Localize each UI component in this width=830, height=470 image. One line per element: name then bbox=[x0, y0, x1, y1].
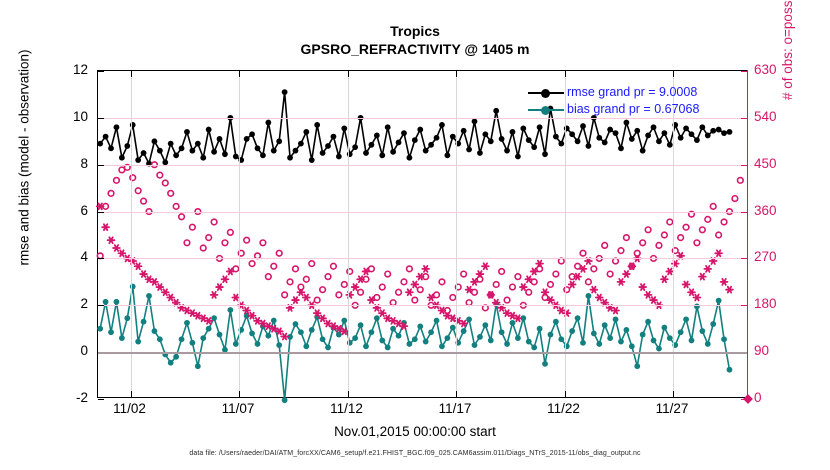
data-point bbox=[217, 136, 223, 142]
data-point bbox=[298, 141, 304, 147]
data-point bbox=[336, 332, 342, 338]
data-point-possible bbox=[705, 217, 711, 223]
data-point bbox=[488, 138, 494, 144]
legend-item-rmse: rmse grand pr = 9.0008 bbox=[528, 84, 743, 101]
data-point-possible bbox=[510, 284, 516, 290]
data-point bbox=[586, 143, 592, 149]
x-tick-top bbox=[239, 71, 240, 77]
data-point bbox=[575, 315, 581, 321]
data-point-possible bbox=[580, 250, 586, 256]
y-tick-label-right: 0 bbox=[754, 391, 800, 404]
data-point bbox=[640, 148, 646, 154]
data-point bbox=[558, 336, 564, 342]
data-point bbox=[401, 130, 407, 136]
data-point-assimilated bbox=[726, 287, 733, 293]
data-point bbox=[249, 331, 255, 337]
data-point-possible bbox=[618, 248, 624, 254]
data-point-assimilated bbox=[715, 250, 722, 256]
data-point-possible bbox=[211, 219, 217, 225]
data-point-possible bbox=[504, 297, 510, 303]
y-tick-label-left: 10 bbox=[48, 110, 88, 123]
data-point-possible bbox=[287, 279, 293, 285]
data-point bbox=[710, 128, 716, 134]
legend-label-bias: bias grand pr = 0.67068 bbox=[567, 101, 699, 118]
data-point bbox=[439, 122, 445, 128]
data-point-possible bbox=[304, 276, 310, 282]
data-point bbox=[575, 138, 581, 144]
data-point bbox=[271, 148, 277, 154]
x-tick-label: 11/17 bbox=[420, 402, 490, 416]
data-point bbox=[293, 321, 299, 327]
data-point bbox=[396, 333, 402, 339]
data-point bbox=[363, 150, 369, 156]
data-point-possible bbox=[624, 235, 630, 241]
data-point bbox=[510, 320, 516, 326]
data-point bbox=[510, 129, 516, 135]
data-point bbox=[678, 329, 684, 335]
data-point bbox=[103, 299, 109, 305]
data-point-assimilated bbox=[721, 279, 728, 285]
data-point bbox=[195, 363, 201, 369]
data-point-possible bbox=[173, 204, 179, 210]
y-tick-right bbox=[741, 399, 747, 400]
data-point-possible bbox=[379, 284, 385, 290]
y-tick-left bbox=[98, 118, 104, 119]
data-point bbox=[699, 124, 705, 130]
y-axis-label-left: rmse and bias (model - observation) bbox=[17, 8, 32, 308]
data-point-assimilated bbox=[623, 271, 630, 277]
data-point-assimilated bbox=[113, 245, 120, 251]
y-tick-left bbox=[98, 258, 104, 259]
data-point-assimilated bbox=[417, 274, 424, 280]
data-point-possible bbox=[401, 279, 407, 285]
gridline-vertical bbox=[673, 71, 674, 397]
gridline-horizontal bbox=[98, 305, 747, 306]
data-point bbox=[504, 148, 510, 154]
data-point bbox=[683, 316, 689, 322]
data-point bbox=[602, 140, 608, 146]
data-point bbox=[428, 142, 434, 148]
data-point bbox=[146, 293, 152, 299]
data-point bbox=[97, 141, 103, 147]
data-point-possible bbox=[645, 227, 651, 233]
data-point bbox=[309, 157, 315, 163]
data-point-possible bbox=[640, 240, 646, 246]
data-point bbox=[157, 336, 163, 342]
data-point bbox=[667, 335, 673, 341]
data-point-possible bbox=[548, 282, 554, 288]
y-tick-left bbox=[98, 399, 104, 400]
data-point-possible bbox=[683, 224, 689, 230]
data-point-possible bbox=[141, 198, 147, 204]
data-point bbox=[141, 150, 147, 156]
data-point bbox=[385, 345, 391, 351]
data-point bbox=[206, 127, 212, 133]
gridline-horizontal bbox=[98, 212, 747, 213]
data-point-assimilated bbox=[574, 274, 581, 280]
data-point-possible bbox=[515, 274, 521, 280]
x-tick-label: 11/22 bbox=[529, 402, 599, 416]
data-point bbox=[374, 315, 380, 321]
data-point bbox=[276, 138, 282, 144]
data-point bbox=[716, 127, 722, 133]
x-tick-top bbox=[673, 71, 674, 77]
data-point bbox=[157, 148, 163, 154]
chart-subtitle: GPSRO_REFRACTIVITY @ 1405 m bbox=[0, 40, 830, 58]
data-point bbox=[607, 127, 613, 133]
data-point-possible bbox=[493, 282, 499, 288]
data-point bbox=[444, 152, 450, 158]
data-point bbox=[624, 327, 630, 333]
gridline-vertical bbox=[131, 71, 132, 397]
data-point bbox=[586, 293, 592, 299]
data-point bbox=[580, 123, 586, 129]
data-point-possible bbox=[412, 297, 418, 303]
data-point-assimilated bbox=[699, 274, 706, 280]
legend-marker-rmse bbox=[528, 87, 564, 99]
data-point-possible bbox=[162, 180, 168, 186]
data-point bbox=[303, 343, 309, 349]
y-axis-label-right: # of obs: o=possible; ✳=assimilated bbox=[780, 0, 796, 100]
data-point bbox=[515, 154, 521, 160]
gridline-vertical bbox=[565, 71, 566, 397]
data-point bbox=[108, 145, 114, 151]
data-point-assimilated bbox=[243, 308, 250, 314]
data-point bbox=[331, 134, 337, 140]
zero-reference-line bbox=[98, 352, 747, 354]
data-point bbox=[482, 322, 488, 328]
data-point bbox=[358, 322, 364, 328]
data-point-possible bbox=[396, 289, 402, 295]
data-point bbox=[271, 318, 277, 324]
data-point bbox=[320, 336, 326, 342]
data-point-assimilated bbox=[618, 279, 625, 285]
data-point-possible bbox=[309, 261, 315, 267]
data-point-assimilated bbox=[639, 284, 646, 290]
data-point-assimilated bbox=[379, 310, 386, 316]
data-point bbox=[184, 320, 190, 326]
legend-marker-bias bbox=[528, 104, 564, 116]
data-point-possible bbox=[157, 172, 163, 178]
data-point bbox=[396, 140, 402, 146]
data-point-possible bbox=[190, 224, 196, 230]
data-point-assimilated bbox=[222, 276, 229, 282]
data-point bbox=[477, 334, 483, 340]
data-point bbox=[108, 329, 114, 335]
data-point-possible bbox=[325, 274, 331, 280]
x-axis-label: Nov.01,2015 00:00:00 start bbox=[0, 424, 830, 439]
data-point-possible bbox=[228, 230, 234, 236]
data-point bbox=[390, 326, 396, 332]
data-point bbox=[542, 151, 548, 157]
y-tick-label-right: 450 bbox=[754, 157, 800, 170]
data-point bbox=[173, 354, 179, 360]
data-point-possible bbox=[206, 235, 212, 241]
data-point-possible bbox=[331, 263, 337, 269]
data-point bbox=[320, 150, 326, 156]
x-tick-label: 11/12 bbox=[312, 402, 382, 416]
data-point bbox=[244, 136, 250, 142]
data-point-assimilated bbox=[683, 282, 690, 288]
data-point bbox=[390, 149, 396, 155]
data-point bbox=[200, 155, 206, 161]
data-point-assimilated bbox=[645, 292, 652, 298]
data-point bbox=[661, 130, 667, 136]
x-tick-top bbox=[456, 71, 457, 77]
data-point bbox=[412, 336, 418, 342]
data-point bbox=[265, 333, 271, 339]
data-point bbox=[195, 141, 201, 147]
data-point bbox=[661, 325, 667, 331]
data-point-possible bbox=[320, 287, 326, 293]
data-point bbox=[119, 335, 125, 341]
data-point-possible bbox=[244, 237, 250, 243]
data-point-assimilated bbox=[352, 284, 359, 290]
data-point-assimilated bbox=[167, 295, 174, 301]
data-point bbox=[352, 335, 358, 341]
data-point bbox=[613, 316, 619, 322]
data-point bbox=[694, 137, 700, 143]
data-point-possible bbox=[656, 243, 662, 249]
data-point bbox=[526, 137, 532, 143]
data-point bbox=[135, 157, 141, 163]
data-point-assimilated bbox=[704, 266, 711, 272]
data-point bbox=[602, 322, 608, 328]
data-point bbox=[624, 120, 630, 126]
x-tick-bottom bbox=[348, 391, 349, 397]
data-point bbox=[710, 321, 716, 327]
data-point bbox=[531, 144, 537, 150]
data-point bbox=[678, 135, 684, 141]
y-tick-label-left: 0 bbox=[48, 344, 88, 357]
x-tick-bottom bbox=[673, 391, 674, 397]
y-tick-label-right: 90 bbox=[754, 344, 800, 357]
y-tick-label-right: 180 bbox=[754, 297, 800, 310]
data-point-assimilated bbox=[97, 203, 104, 209]
data-point bbox=[727, 129, 733, 135]
data-point-possible bbox=[662, 232, 668, 238]
data-point bbox=[255, 145, 261, 151]
data-point-assimilated bbox=[650, 297, 657, 303]
data-point bbox=[629, 136, 635, 142]
y-tick-left bbox=[98, 305, 104, 306]
x-tick-top bbox=[565, 71, 566, 77]
data-point-possible bbox=[667, 219, 673, 225]
data-point bbox=[472, 342, 478, 348]
data-point-possible bbox=[260, 240, 266, 246]
data-point-possible bbox=[721, 219, 727, 225]
data-point-assimilated bbox=[482, 263, 489, 269]
data-point-assimilated bbox=[422, 266, 429, 272]
y-tick-left bbox=[98, 71, 104, 72]
data-point bbox=[179, 336, 185, 342]
data-point bbox=[168, 360, 174, 366]
data-point bbox=[423, 339, 429, 345]
data-point bbox=[206, 326, 212, 332]
data-point bbox=[406, 155, 412, 161]
data-point-possible bbox=[700, 227, 706, 233]
data-point-assimilated bbox=[216, 284, 223, 290]
data-point bbox=[607, 335, 613, 341]
data-point bbox=[596, 135, 602, 141]
data-point bbox=[168, 141, 174, 147]
data-point-possible bbox=[179, 214, 185, 220]
data-point bbox=[553, 134, 559, 140]
data-point bbox=[634, 128, 640, 134]
data-point bbox=[645, 133, 651, 139]
data-point-assimilated bbox=[162, 289, 169, 295]
data-point bbox=[645, 319, 651, 325]
data-point bbox=[651, 338, 657, 344]
y-tick-label-left: 12 bbox=[48, 63, 88, 76]
data-point-assimilated bbox=[569, 282, 576, 288]
data-point bbox=[189, 148, 195, 154]
data-point-assimilated bbox=[439, 308, 446, 314]
data-point bbox=[423, 148, 429, 154]
data-point bbox=[537, 124, 543, 130]
data-point bbox=[656, 346, 662, 352]
data-point-assimilated bbox=[661, 276, 668, 282]
data-point bbox=[233, 154, 239, 160]
data-point bbox=[434, 318, 440, 324]
data-point-possible bbox=[108, 191, 114, 197]
data-point-possible bbox=[282, 292, 288, 298]
data-point bbox=[537, 326, 543, 332]
data-point-assimilated bbox=[520, 284, 527, 290]
data-point-possible bbox=[439, 279, 445, 285]
data-point bbox=[336, 154, 342, 160]
data-point bbox=[135, 339, 141, 345]
data-point bbox=[374, 133, 380, 139]
data-point bbox=[488, 338, 494, 344]
data-point bbox=[434, 135, 440, 141]
data-point-possible bbox=[168, 191, 174, 197]
data-point bbox=[472, 118, 478, 124]
y-tick-left bbox=[98, 165, 104, 166]
plot-canvas bbox=[98, 71, 749, 399]
data-point bbox=[683, 126, 689, 132]
data-point-possible bbox=[602, 243, 608, 249]
data-point bbox=[369, 329, 375, 335]
data-point-assimilated bbox=[406, 289, 413, 295]
data-point bbox=[591, 331, 597, 337]
data-point-possible bbox=[461, 271, 467, 277]
data-point bbox=[379, 152, 385, 158]
x-tick-top bbox=[131, 71, 132, 77]
gridline-horizontal bbox=[98, 165, 747, 166]
data-point bbox=[499, 329, 505, 335]
data-point bbox=[493, 108, 499, 114]
data-point bbox=[124, 315, 130, 321]
data-point bbox=[515, 335, 521, 341]
y-tick-left bbox=[98, 212, 104, 213]
data-point-assimilated bbox=[118, 250, 125, 256]
data-point bbox=[233, 341, 239, 347]
data-point-possible bbox=[732, 196, 738, 202]
y-tick-label-left: -2 bbox=[48, 391, 88, 404]
data-point-possible bbox=[276, 250, 282, 256]
data-point bbox=[542, 361, 548, 367]
data-point-possible bbox=[266, 274, 272, 280]
data-point bbox=[417, 127, 423, 133]
data-point bbox=[341, 318, 347, 324]
data-point bbox=[705, 341, 711, 347]
data-point-possible bbox=[710, 204, 716, 210]
data-point bbox=[97, 326, 103, 332]
data-point bbox=[450, 134, 456, 140]
data-point-possible bbox=[407, 266, 413, 272]
data-point bbox=[569, 328, 575, 334]
data-point bbox=[721, 130, 727, 136]
data-point bbox=[689, 338, 695, 344]
data-point bbox=[152, 328, 158, 334]
data-point bbox=[141, 319, 147, 325]
data-point bbox=[553, 319, 559, 325]
data-point bbox=[189, 340, 195, 346]
data-point bbox=[200, 335, 206, 341]
data-point bbox=[461, 328, 467, 334]
data-point bbox=[119, 155, 125, 161]
data-point bbox=[227, 307, 233, 313]
y-tick-label-right: 540 bbox=[754, 110, 800, 123]
data-point-possible bbox=[607, 271, 613, 277]
data-point bbox=[249, 131, 255, 137]
page-title: Tropics bbox=[0, 22, 830, 40]
chart-legend: rmse grand pr = 9.0008 bias grand pr = 0… bbox=[528, 84, 743, 118]
data-point-possible bbox=[114, 178, 120, 184]
data-point bbox=[596, 341, 602, 347]
data-point bbox=[282, 397, 288, 403]
data-point bbox=[179, 145, 185, 151]
x-tick-top bbox=[348, 71, 349, 77]
data-point bbox=[303, 129, 309, 135]
data-point-possible bbox=[314, 297, 320, 303]
x-tick-label: 11/02 bbox=[95, 402, 165, 416]
data-point bbox=[369, 142, 375, 148]
data-point bbox=[152, 138, 158, 144]
data-point bbox=[173, 152, 179, 158]
data-point bbox=[255, 341, 261, 347]
y-tick-label-left: 2 bbox=[48, 297, 88, 310]
data-point-possible bbox=[358, 289, 364, 295]
data-point bbox=[293, 148, 299, 154]
data-point bbox=[260, 152, 266, 158]
data-point-possible bbox=[738, 178, 744, 184]
data-point bbox=[325, 143, 331, 149]
data-point bbox=[613, 130, 619, 136]
data-point bbox=[428, 329, 434, 335]
data-point bbox=[580, 340, 586, 346]
data-point-possible bbox=[591, 266, 597, 272]
data-point bbox=[640, 332, 646, 338]
data-point-assimilated bbox=[688, 289, 695, 295]
data-point-possible bbox=[716, 232, 722, 238]
data-point-possible bbox=[499, 269, 505, 275]
data-point-assimilated bbox=[292, 297, 299, 303]
y-tick-label-left: 6 bbox=[48, 204, 88, 217]
data-point bbox=[287, 155, 293, 161]
data-point bbox=[667, 142, 673, 148]
data-point-assimilated bbox=[140, 271, 147, 277]
data-point-assimilated bbox=[357, 276, 364, 282]
data-point bbox=[477, 150, 483, 156]
legend-item-bias: bias grand pr = 0.67068 bbox=[528, 101, 743, 118]
data-point bbox=[103, 134, 109, 140]
data-point bbox=[363, 343, 369, 349]
data-point bbox=[352, 144, 358, 150]
data-point-assimilated bbox=[694, 295, 701, 301]
data-point-possible bbox=[553, 271, 559, 277]
